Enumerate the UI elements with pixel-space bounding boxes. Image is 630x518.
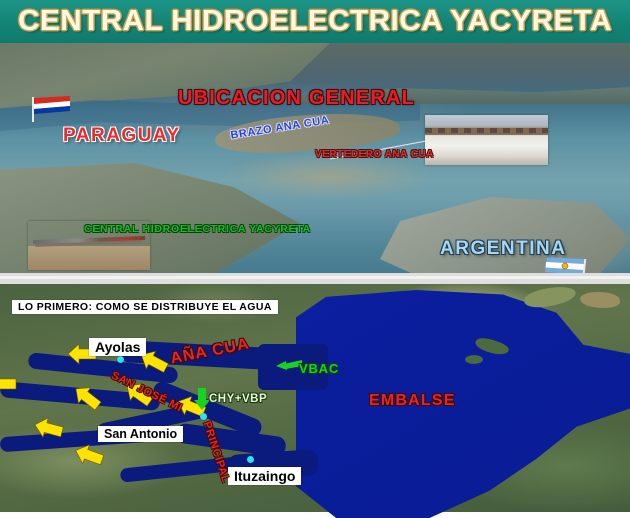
flow-label-chy-vbp: CHY+VBP xyxy=(209,393,267,405)
city-marker-san-antonio xyxy=(200,413,207,420)
country-label-argentina: ARGENTINA xyxy=(440,238,566,260)
city-marker-ayolas xyxy=(117,356,124,363)
flow-label-vbac: VBAC xyxy=(299,361,339,376)
feature-label-vertedero-ana-cua: VERTEDERO ANA CUA xyxy=(315,149,434,160)
overlay-title-ubicacion-general: UBICACION GENERAL xyxy=(178,87,415,110)
page-title: CENTRAL HIDROELECTRICA YACYRETA xyxy=(18,5,612,38)
slide-root: CENTRAL HIDROELECTRICA YACYRETA xyxy=(0,0,630,518)
spillway-inset-photo xyxy=(425,115,548,165)
city-label-ayolas: Ayolas xyxy=(89,338,146,356)
feature-label-central-hidroelectrica: CENTRAL HIDROELECTRICA YACYRETA xyxy=(84,223,311,235)
country-label-paraguay: PARAGUAY xyxy=(63,125,181,147)
caption-lo-primero: LO PRIMERO: COMO SE DISTRIBUYE EL AGUA xyxy=(12,300,278,314)
city-label-ituzaingo: Ituzaingo xyxy=(228,467,301,485)
city-marker-ituzaingo xyxy=(247,456,254,463)
panel-divider xyxy=(0,273,630,284)
slide-title-bar: CENTRAL HIDROELECTRICA YACYRETA xyxy=(0,0,630,43)
chy-vbp-green-arrow-icon xyxy=(194,388,210,410)
paraguay-flag xyxy=(30,95,72,122)
reservoir-island xyxy=(465,355,483,364)
city-label-san-antonio: San Antonio xyxy=(98,426,183,442)
feature-label-embalse: EMBALSE xyxy=(369,392,456,410)
